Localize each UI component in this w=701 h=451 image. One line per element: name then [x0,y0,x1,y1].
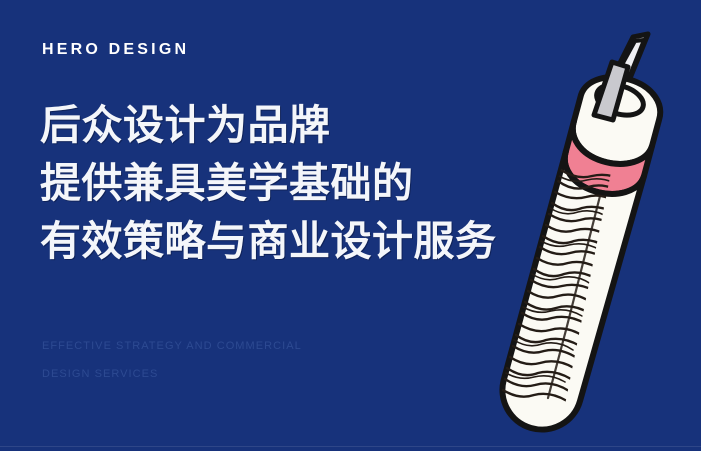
subcopy-block: EFFECTIVE STRATEGY AND COMMERCIAL DESIGN… [42,332,302,388]
subcopy-line-2: DESIGN SERVICES [42,360,302,388]
headline-line-1: 后众设计为品牌 [40,96,520,154]
headline-block: 后众设计为品牌 提供兼具美学基础的 有效策略与商业设计服务 [40,96,520,270]
subcopy-line-1: EFFECTIVE STRATEGY AND COMMERCIAL [42,332,302,360]
headline-line-2: 提供兼具美学基础的 [40,154,520,212]
headline-line-3: 有效策略与商业设计服务 [40,212,520,270]
poster-canvas: HERO DESIGN 后众设计为品牌 提供兼具美学基础的 有效策略与商业设计服… [0,0,701,451]
bottom-divider [0,446,701,447]
brand-eyebrow: HERO DESIGN [42,40,189,60]
